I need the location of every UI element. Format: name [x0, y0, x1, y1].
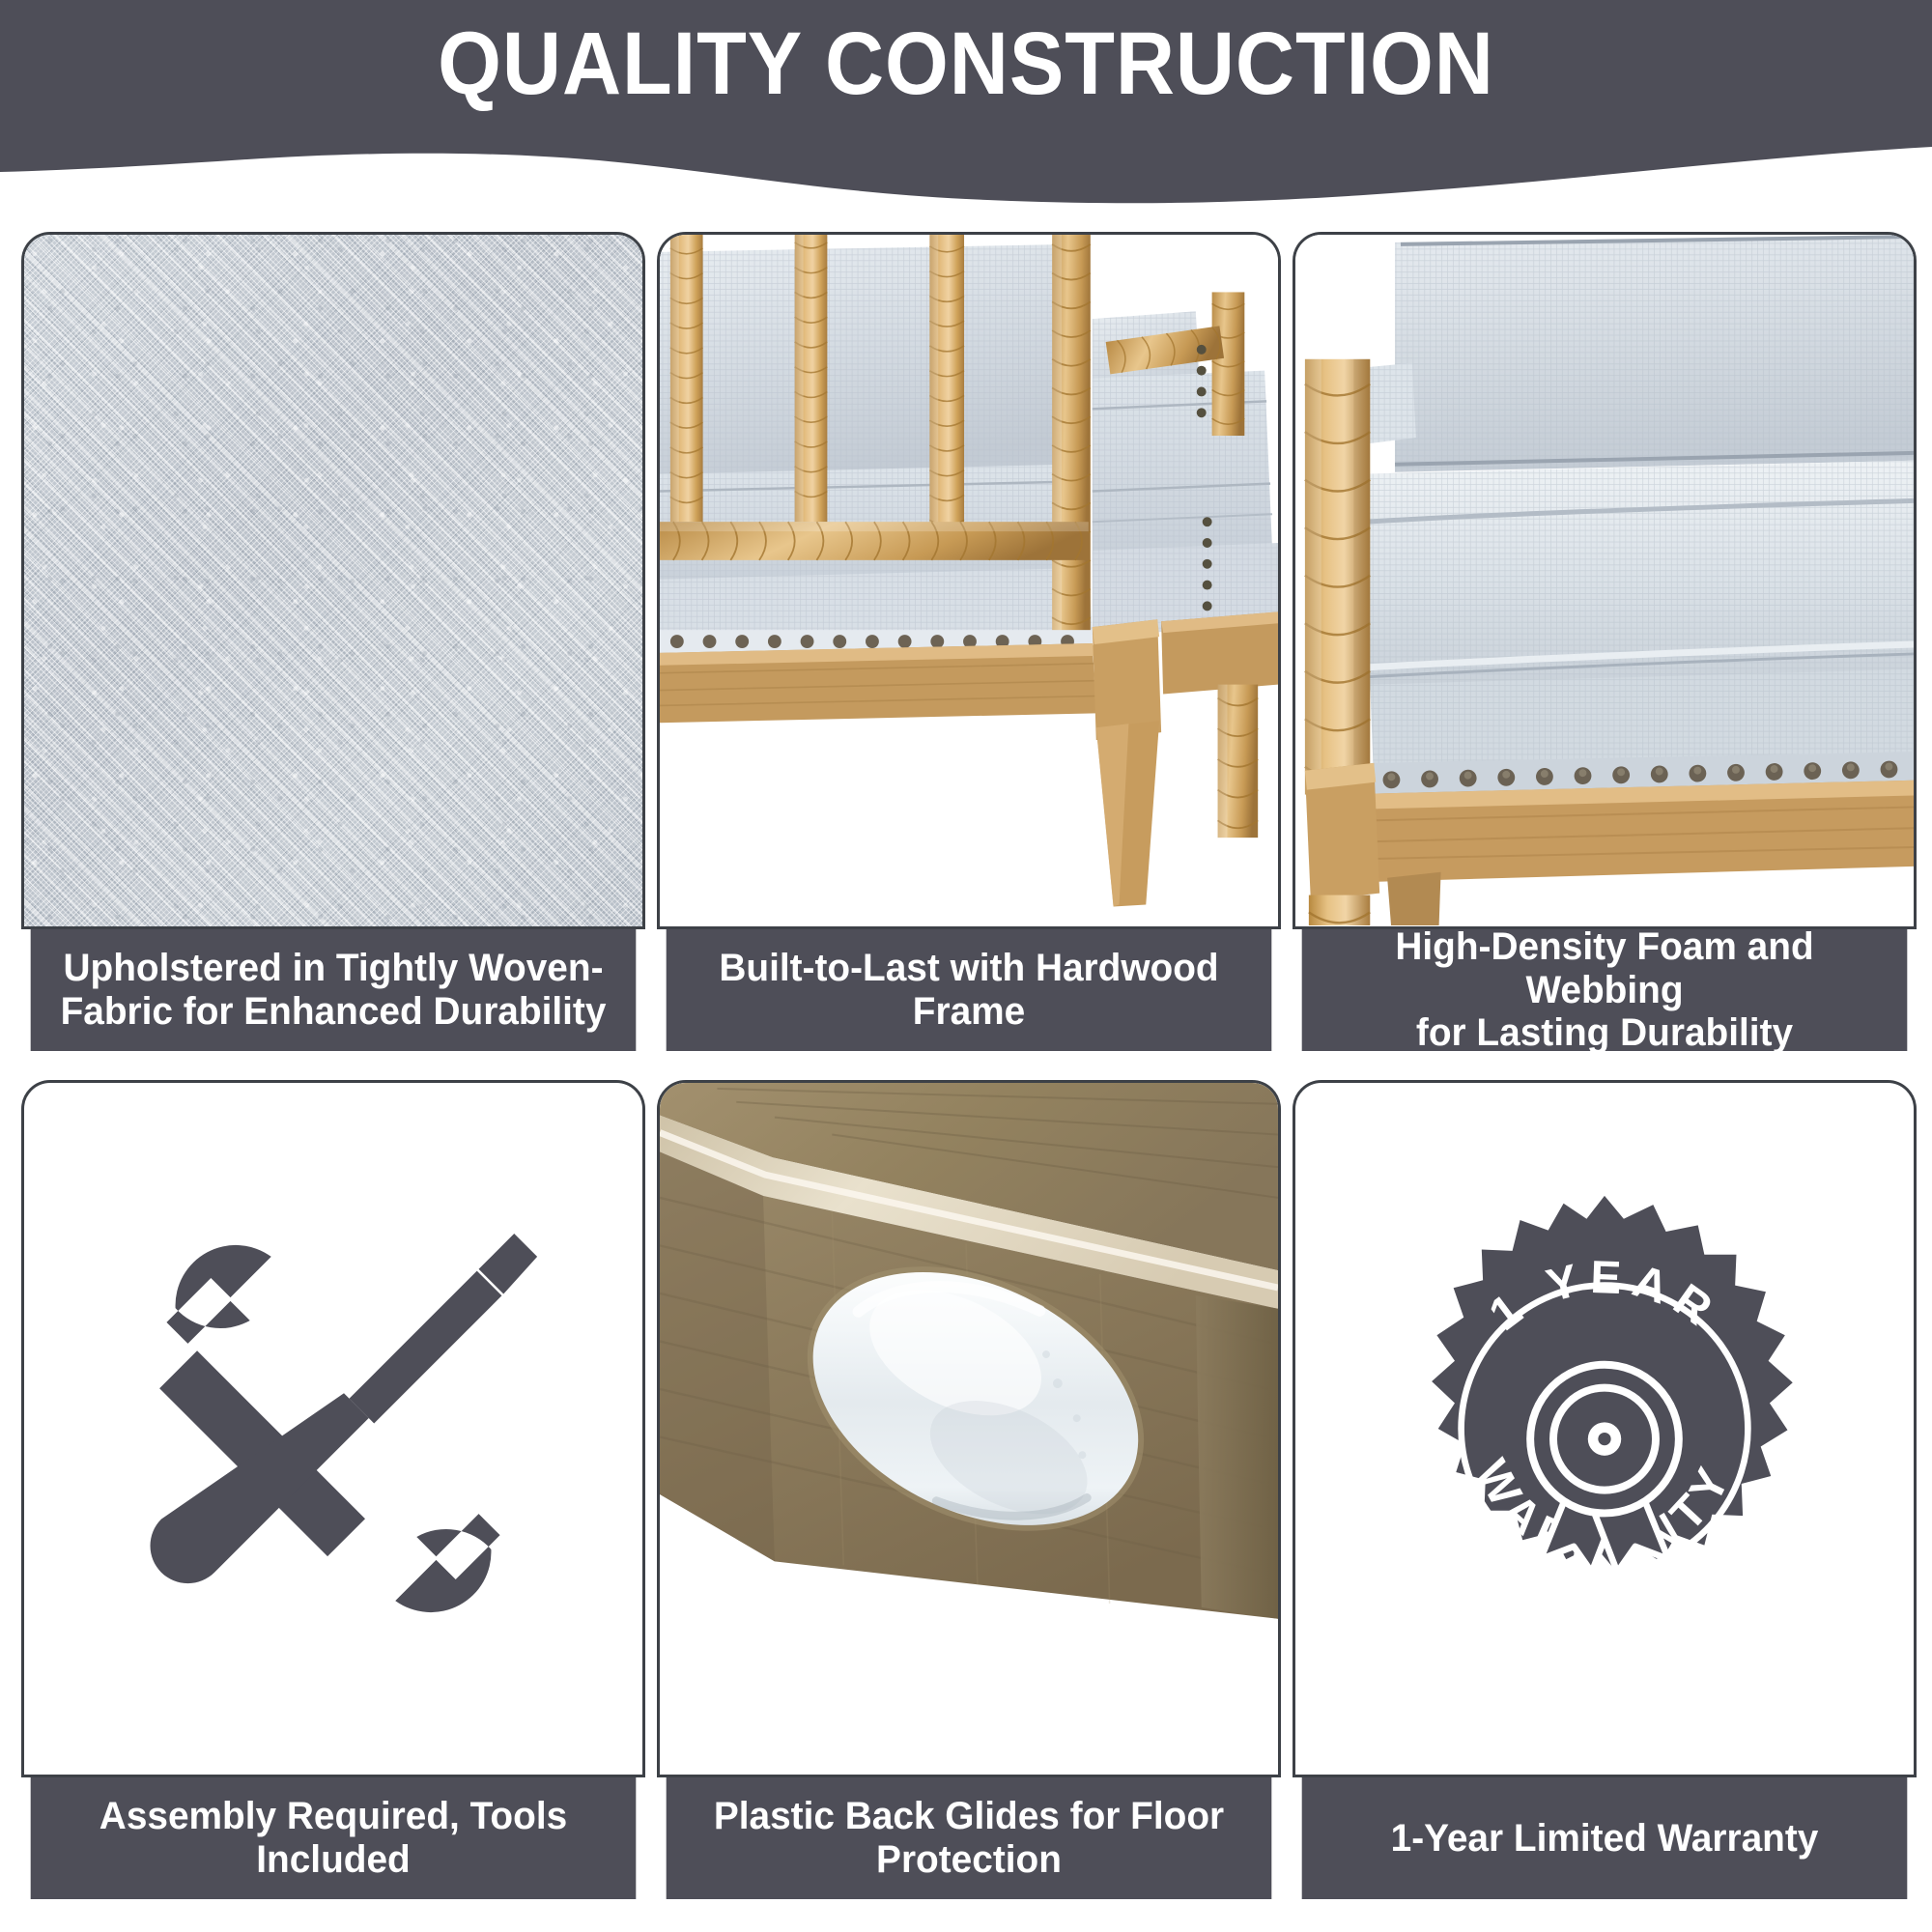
caption-foam-webbing-line2: for Lasting Durability: [1315, 1011, 1893, 1055]
warranty-seal-icon: 1 YEAR WARRANTY: [1295, 1083, 1914, 1775]
caption-warranty-line1: 1-Year Limited Warranty: [1315, 1817, 1893, 1861]
feature-card-warranty: 1 YEAR WARRANTY: [1293, 1080, 1917, 1899]
caption-fabric: Upholstered in Tightly Woven- Fabric for…: [31, 929, 637, 1051]
caption-assembly-line2: Included: [43, 1838, 622, 1882]
assembly-panel: [21, 1080, 645, 1777]
fabric-panel: [21, 232, 645, 929]
caption-hardwood-frame-line2: Frame: [679, 990, 1258, 1034]
hardwood-frame-panel: [657, 232, 1281, 929]
caption-assembly-line1: Assembly Required, Tools: [43, 1795, 622, 1838]
feature-card-assembly: Assembly Required, Tools Included: [21, 1080, 645, 1899]
caption-glides-line2: Protection: [679, 1838, 1258, 1882]
feature-card-fabric: Upholstered in Tightly Woven- Fabric for…: [21, 232, 645, 1051]
caption-hardwood-frame: Built-to-Last with Hardwood Frame: [667, 929, 1272, 1051]
feature-card-hardwood-frame: Built-to-Last with Hardwood Frame: [657, 232, 1281, 1051]
cushion-closeup-photo: [1295, 235, 1914, 926]
caption-glides: Plastic Back Glides for Floor Protection: [667, 1777, 1272, 1899]
feature-card-foam-webbing: High-Density Foam and Webbing for Lastin…: [1293, 232, 1917, 1051]
caption-hardwood-frame-line1: Built-to-Last with Hardwood: [679, 947, 1258, 990]
infographic-page: QUALITY CONSTRUCTION Upholstered in Tigh…: [0, 0, 1932, 1932]
caption-fabric-line2: Fabric for Enhanced Durability: [43, 990, 622, 1034]
wrench-screwdriver-icon: [24, 1083, 642, 1775]
glides-panel: [657, 1080, 1281, 1777]
foam-webbing-panel: [1293, 232, 1917, 929]
spindle-chair-frame-photo: [660, 235, 1278, 926]
feature-card-glides: Plastic Back Glides for Floor Protection: [657, 1080, 1281, 1899]
caption-fabric-line1: Upholstered in Tightly Woven-: [43, 947, 622, 990]
page-title: QUALITY CONSTRUCTION: [77, 17, 1855, 112]
woven-fabric-swatch-photo: [24, 235, 642, 926]
caption-assembly: Assembly Required, Tools Included: [31, 1777, 637, 1899]
header-banner: QUALITY CONSTRUCTION: [0, 0, 1932, 222]
caption-foam-webbing-line1: High-Density Foam and Webbing: [1315, 925, 1893, 1012]
caption-foam-webbing: High-Density Foam and Webbing for Lastin…: [1302, 929, 1908, 1051]
caption-warranty: 1-Year Limited Warranty: [1302, 1777, 1908, 1899]
caption-glides-line1: Plastic Back Glides for Floor: [679, 1795, 1258, 1838]
warranty-panel: 1 YEAR WARRANTY: [1293, 1080, 1917, 1777]
plastic-glide-photo: [660, 1083, 1278, 1775]
